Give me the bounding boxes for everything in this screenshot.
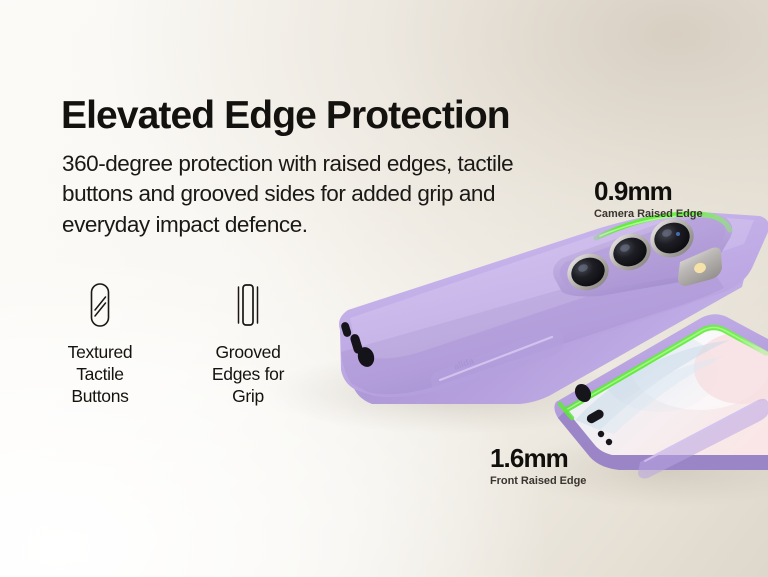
camera-lens-3 <box>645 213 699 264</box>
feature-item-grooved-edges-for-grip: Grooved Edges for Grip <box>198 280 298 407</box>
front-phone <box>554 310 768 479</box>
brand-emboss: alida <box>452 355 476 372</box>
camera-flash <box>678 248 722 287</box>
textured-button-icon <box>86 280 114 330</box>
callout-front-raised-edge: 1.6mm Front Raised Edge <box>490 445 586 487</box>
phone-shadow-back <box>267 350 637 434</box>
page-title: Elevated Edge Protection <box>61 96 510 137</box>
callout-caption: Camera Raised Edge <box>594 209 703 220</box>
side-cutouts <box>340 321 376 369</box>
callout-value: 1.6mm <box>490 445 586 471</box>
feature-list: Textured Tactile Buttons Grooved Edges f… <box>50 280 298 407</box>
green-raised-edge-front <box>566 328 766 411</box>
page-subcopy: 360-degree protection with raised edges,… <box>62 149 582 241</box>
product-feature-banner: alida <box>0 0 768 577</box>
feature-item-textured-tactile-buttons: Textured Tactile Buttons <box>50 280 150 407</box>
callout-camera-raised-edge: 0.9mm Camera Raised Edge <box>594 178 703 220</box>
callout-caption: Front Raised Edge <box>490 476 586 487</box>
camera-lens-2 <box>604 228 656 276</box>
feature-label: Textured Tactile Buttons <box>68 341 133 407</box>
feature-label: Grooved Edges for Grip <box>212 341 284 407</box>
camera-lens-1 <box>562 248 614 296</box>
grooved-edge-icon <box>234 280 262 330</box>
callout-value: 0.9mm <box>594 178 703 204</box>
back-phone: alida <box>339 212 768 404</box>
